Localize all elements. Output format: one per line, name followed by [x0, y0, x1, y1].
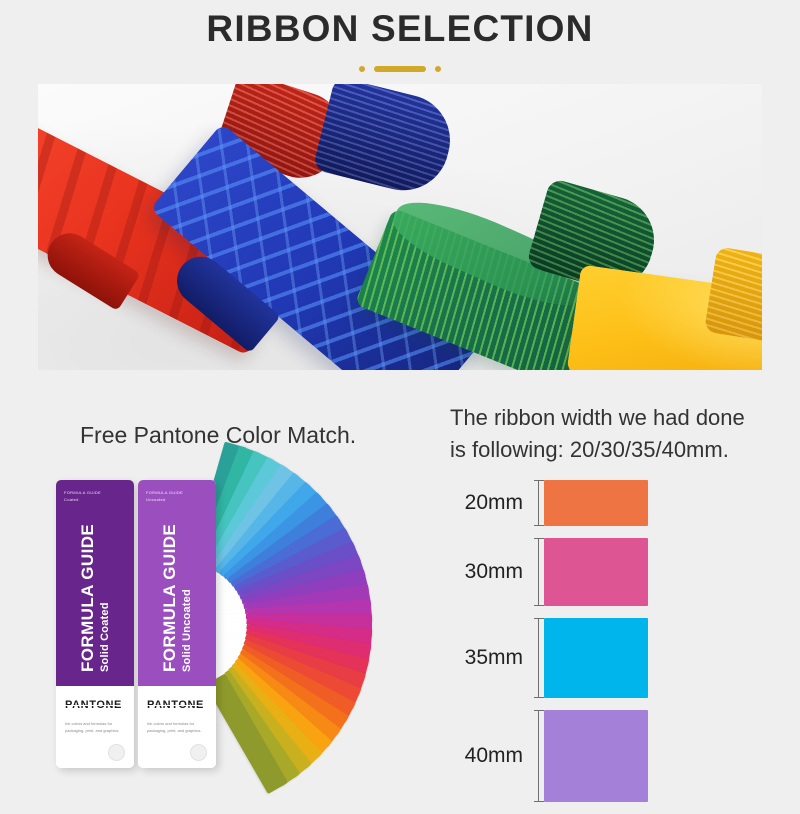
- guide-vertical-text-coated: FORMULA GUIDE Solid Coated: [56, 480, 134, 686]
- bracket-tick-bottom: [534, 605, 544, 606]
- pantone-wordmark-coated: PANTONE: [65, 699, 122, 711]
- guide-subtitle-coated: Solid Coated: [99, 480, 111, 672]
- width-caption-line-2: is following: 20/30/35/40mm.: [450, 434, 785, 466]
- title-divider: [0, 63, 800, 75]
- width-measure-bracket: [532, 538, 544, 606]
- width-caption-line-1: The ribbon width we had done: [450, 402, 785, 434]
- width-row: 30mm: [450, 538, 790, 606]
- pantone-caption: Free Pantone Color Match.: [80, 422, 356, 449]
- pantone-fan-deck: FORMULA GUIDE Coated FORMULA GUIDE Solid…: [56, 480, 436, 772]
- width-row: 40mm: [450, 710, 790, 802]
- bracket-tick-bottom: [534, 525, 544, 526]
- guide-footer-uncoated: PANTONE Ink colors and formulas for pack…: [138, 686, 216, 768]
- guide-fine-print-coated: Ink colors and formulas for packaging, p…: [65, 720, 126, 734]
- guide-disc-icon-uncoated: [190, 744, 207, 761]
- width-color-swatch: [544, 480, 648, 526]
- bracket-tick-top: [534, 480, 544, 481]
- bracket-tick-bottom: [534, 697, 544, 698]
- width-color-swatch: [544, 710, 648, 802]
- width-measure-bracket: [532, 710, 544, 802]
- pantone-wordmark-uncoated: PANTONE: [147, 699, 204, 711]
- guide-fine-print-uncoated: Ink colors and formulas for packaging, p…: [147, 720, 208, 734]
- guide-subtitle-uncoated: Solid Uncoated: [181, 480, 193, 672]
- width-color-swatch: [544, 538, 648, 606]
- guide-vertical-text-uncoated: FORMULA GUIDE Solid Uncoated: [138, 480, 216, 686]
- guide-cover-coated: FORMULA GUIDE Coated FORMULA GUIDE Solid…: [56, 480, 134, 686]
- width-label: 40mm: [450, 744, 532, 768]
- width-row: 35mm: [450, 618, 790, 698]
- width-color-swatch: [544, 618, 648, 698]
- bracket-tick-top: [534, 618, 544, 619]
- page-title: RIBBON SELECTION: [0, 8, 800, 51]
- guide-title-coated: FORMULA GUIDE: [79, 480, 97, 672]
- guide-title-uncoated: FORMULA GUIDE: [161, 480, 179, 672]
- divider-dot-left: [359, 66, 365, 72]
- bracket-tick-top: [534, 710, 544, 711]
- divider-dot-right: [435, 66, 441, 72]
- width-label: 35mm: [450, 646, 532, 670]
- ribbon-width-list: 20mm30mm35mm40mm: [450, 480, 790, 814]
- pantone-guide-coated: FORMULA GUIDE Coated FORMULA GUIDE Solid…: [56, 480, 134, 768]
- bracket-tick-top: [534, 538, 544, 539]
- pantone-guide-uncoated: FORMULA GUIDE Uncoated FORMULA GUIDE Sol…: [138, 480, 216, 768]
- guide-disc-icon-coated: [108, 744, 125, 761]
- divider-bar: [374, 66, 426, 72]
- guide-footer-coated: PANTONE Ink colors and formulas for pack…: [56, 686, 134, 768]
- width-label: 30mm: [450, 560, 532, 584]
- width-label: 20mm: [450, 491, 532, 515]
- width-measure-bracket: [532, 480, 544, 526]
- guide-cover-uncoated: FORMULA GUIDE Uncoated FORMULA GUIDE Sol…: [138, 480, 216, 686]
- ribbon-photo: [38, 84, 762, 370]
- width-measure-bracket: [532, 618, 544, 698]
- page-header: RIBBON SELECTION: [0, 0, 800, 75]
- lower-section: Free Pantone Color Match. The ribbon wid…: [0, 380, 800, 800]
- pantone-color-fan: [184, 486, 434, 766]
- bracket-tick-bottom: [534, 801, 544, 802]
- width-row: 20mm: [450, 480, 790, 526]
- width-caption: The ribbon width we had done is followin…: [450, 402, 785, 466]
